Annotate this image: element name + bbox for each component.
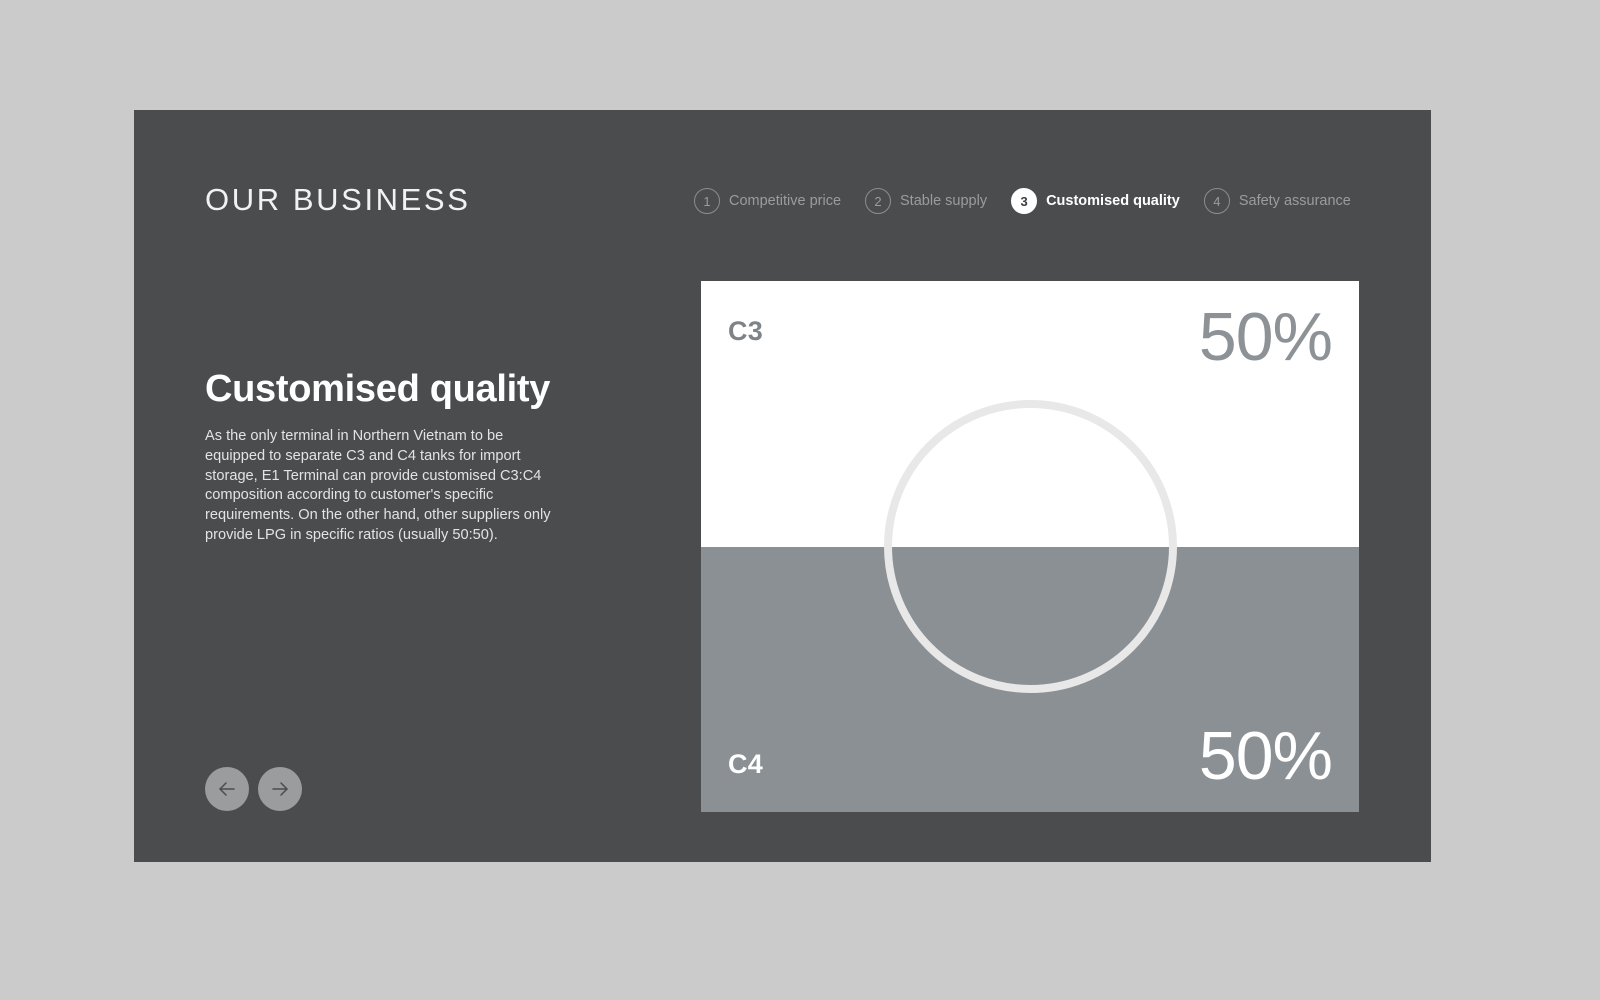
step-nav-item-4[interactable]: 4 Safety assurance bbox=[1204, 188, 1351, 214]
step-label-4: Safety assurance bbox=[1239, 193, 1351, 209]
page-title: OUR BUSINESS bbox=[205, 182, 470, 218]
carousel-next-button[interactable] bbox=[258, 767, 302, 811]
carousel-controls bbox=[205, 767, 302, 811]
step-label-2: Stable supply bbox=[900, 193, 987, 209]
carousel-prev-button[interactable] bbox=[205, 767, 249, 811]
chart-label-c4: C4 bbox=[728, 749, 763, 780]
step-number-3: 3 bbox=[1011, 188, 1037, 214]
chart-label-c3: C3 bbox=[728, 316, 763, 347]
chart-value-c4: 50% bbox=[1199, 722, 1332, 790]
step-number-4: 4 bbox=[1204, 188, 1230, 214]
step-nav: 1 Competitive price 2 Stable supply 3 Cu… bbox=[694, 188, 1351, 214]
arrow-left-icon bbox=[215, 777, 239, 801]
slide-frame: OUR BUSINESS 1 Competitive price 2 Stabl… bbox=[134, 110, 1431, 862]
step-number-1: 1 bbox=[694, 188, 720, 214]
step-nav-item-1[interactable]: 1 Competitive price bbox=[694, 188, 841, 214]
composition-chart: C3 50% C4 50% bbox=[701, 281, 1359, 812]
step-nav-item-3[interactable]: 3 Customised quality bbox=[1011, 188, 1180, 214]
section-body-text: As the only terminal in Northern Vietnam… bbox=[205, 427, 567, 546]
chart-ring-overlay bbox=[884, 400, 1177, 693]
step-label-1: Competitive price bbox=[729, 193, 841, 209]
arrow-right-icon bbox=[268, 777, 292, 801]
chart-value-c3: 50% bbox=[1199, 303, 1332, 371]
slide-page: OUR BUSINESS 1 Competitive price 2 Stabl… bbox=[0, 0, 1600, 1000]
step-nav-item-2[interactable]: 2 Stable supply bbox=[865, 188, 987, 214]
section-heading: Customised quality bbox=[205, 368, 550, 411]
step-label-3: Customised quality bbox=[1046, 193, 1180, 209]
step-number-2: 2 bbox=[865, 188, 891, 214]
